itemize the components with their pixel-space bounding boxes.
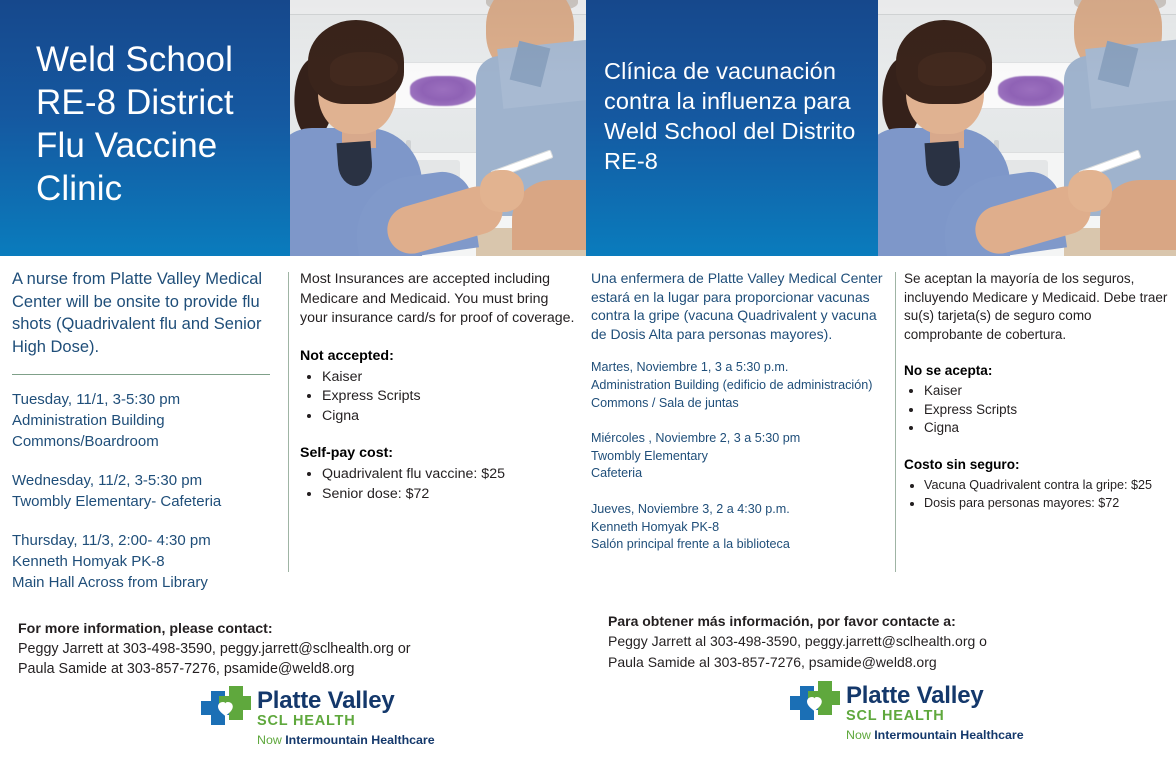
english-contact-line-1: Peggy Jarrett at 303-498-3590, peggy.jar… [18,639,498,659]
list-item: Cigna [322,407,576,427]
clinic-photo-left [290,0,586,256]
event-location: Twombly Elementary- Cafeteria [12,491,276,512]
spanish-contact-heading: Para obtener más información, por favor … [608,612,1088,631]
event-room: Salón principal frente a la biblioteca [591,536,887,554]
spanish-lead-paragraph: Una enfermera de Platte Valley Medical C… [591,269,887,343]
event-room: Commons / Sala de juntas [591,395,887,413]
logo-parent-name: Intermountain Healthcare [874,728,1023,742]
banner-row: Weld School RE-8 District Flu Vaccine Cl… [0,0,1176,256]
platte-valley-cross-icon [788,681,840,729]
event-location: Kenneth Homyak PK-8 [591,519,887,537]
english-selfpay-heading: Self-pay cost: [300,444,576,463]
spanish-title-banner: Clínica de vacunación contra la influenz… [586,0,878,256]
logo-system-name: SCL HEALTH [257,713,435,730]
clinic-photo-right [878,0,1176,256]
logo-system-name: SCL HEALTH [846,708,1024,725]
logo-now-word: Now [846,728,874,742]
event-datetime: Jueves, Noviembre 3, 2 a 4:30 p.m. [591,501,887,519]
logo-parent-line: Now Intermountain Healthcare [257,733,435,748]
english-schedule-column: A nurse from Platte Valley Medical Cente… [12,256,276,593]
event-location: Administration Building (edificio de adm… [591,377,887,395]
spanish-not-accepted-list: Kaiser Express Scripts Cigna [904,382,1172,437]
list-item: Senior dose: $72 [322,485,576,505]
english-contact-heading: For more information, please contact: [18,620,498,639]
platte-valley-logo-right: Platte Valley SCL HEALTH Now Intermounta… [788,681,1024,743]
event-location: Kenneth Homyak PK-8 [12,551,276,572]
spanish-selfpay-list: Vacuna Quadrivalent contra la gripe: $25… [904,476,1172,512]
english-event-2: Wednesday, 11/2, 3-5:30 pm Twombly Eleme… [12,470,276,512]
logo-text-block: Platte Valley SCL HEALTH Now Intermounta… [257,686,435,748]
photo-vignette [878,0,1176,256]
spanish-insurance-paragraph: Se aceptan la mayoría de los seguros, in… [904,270,1172,344]
event-datetime: Wednesday, 11/2, 3-5:30 pm [12,470,276,491]
section-rule [12,374,270,375]
event-location: Twombly Elementary [591,448,887,466]
column-divider-1 [288,272,289,572]
english-not-accepted-heading: Not accepted: [300,347,576,366]
logo-now-word: Now [257,733,285,747]
spanish-contact-line-2: Paula Samide al 303-857-7276, psamide@we… [608,652,1088,673]
event-datetime: Miércoles , Noviembre 2, 3 a 5:30 pm [591,430,887,448]
list-item: Express Scripts [322,387,576,407]
platte-valley-cross-icon [199,686,251,734]
event-room: Main Hall Across from Library [12,572,276,593]
spanish-contact-block: Para obtener más información, por favor … [608,612,1088,673]
event-datetime: Thursday, 11/3, 2:00- 4:30 pm [12,530,276,551]
list-item: Express Scripts [924,401,1172,419]
spanish-event-1: Martes, Noviembre 1, 3 a 5:30 p.m. Admin… [591,359,887,412]
english-selfpay-list: Quadrivalent flu vaccine: $25 Senior dos… [300,465,576,504]
spanish-event-3: Jueves, Noviembre 3, 2 a 4:30 p.m. Kenne… [591,501,887,554]
english-insurance-column: Most Insurances are accepted including M… [300,256,576,504]
flyer-page: Weld School RE-8 District Flu Vaccine Cl… [0,0,1176,763]
english-lead-paragraph: A nurse from Platte Valley Medical Cente… [12,268,276,358]
english-event-3: Thursday, 11/3, 2:00- 4:30 pm Kenneth Ho… [12,530,276,593]
list-item: Vacuna Quadrivalent contra la gripe: $25 [924,476,1172,494]
logo-brand-name: Platte Valley [846,683,1024,708]
list-item: Kaiser [322,368,576,388]
spanish-schedule-column: Una enfermera de Platte Valley Medical C… [591,256,887,572]
spanish-event-2: Miércoles , Noviembre 2, 3 a 5:30 pm Two… [591,430,887,483]
photo-vignette [290,0,586,256]
english-title-banner: Weld School RE-8 District Flu Vaccine Cl… [0,0,290,256]
event-room: Commons/Boardroom [12,431,276,452]
english-insurance-paragraph: Most Insurances are accepted including M… [300,270,576,329]
english-contact-block: For more information, please contact: Pe… [18,620,498,679]
spanish-selfpay-heading: Costo sin seguro: [904,456,1172,474]
list-item: Kaiser [924,382,1172,400]
logo-parent-line: Now Intermountain Healthcare [846,728,1024,743]
event-datetime: Tuesday, 11/1, 3-5:30 pm [12,389,276,410]
spanish-not-accepted-heading: No se acepta: [904,362,1172,380]
column-divider-2 [895,272,896,572]
event-datetime: Martes, Noviembre 1, 3 a 5:30 p.m. [591,359,887,377]
list-item: Dosis para personas mayores: $72 [924,494,1172,512]
english-event-1: Tuesday, 11/1, 3-5:30 pm Administration … [12,389,276,452]
logo-brand-name: Platte Valley [257,688,435,713]
english-page-title: Weld School RE-8 District Flu Vaccine Cl… [36,38,290,210]
event-location: Administration Building [12,410,276,431]
list-item: Cigna [924,419,1172,437]
english-contact-line-2: Paula Samide at 303-857-7276, psamide@we… [18,659,498,679]
logo-parent-name: Intermountain Healthcare [285,733,434,747]
platte-valley-logo-left: Platte Valley SCL HEALTH Now Intermounta… [199,686,435,748]
logo-text-block: Platte Valley SCL HEALTH Now Intermounta… [846,681,1024,743]
list-item: Quadrivalent flu vaccine: $25 [322,465,576,485]
spanish-insurance-column: Se aceptan la mayoría de los seguros, in… [904,256,1172,512]
spanish-contact-line-1: Peggy Jarrett al 303-498-3590, peggy.jar… [608,631,1088,652]
event-room: Cafeteria [591,465,887,483]
english-not-accepted-list: Kaiser Express Scripts Cigna [300,368,576,427]
spanish-page-title: Clínica de vacunación contra la influenz… [604,56,866,176]
